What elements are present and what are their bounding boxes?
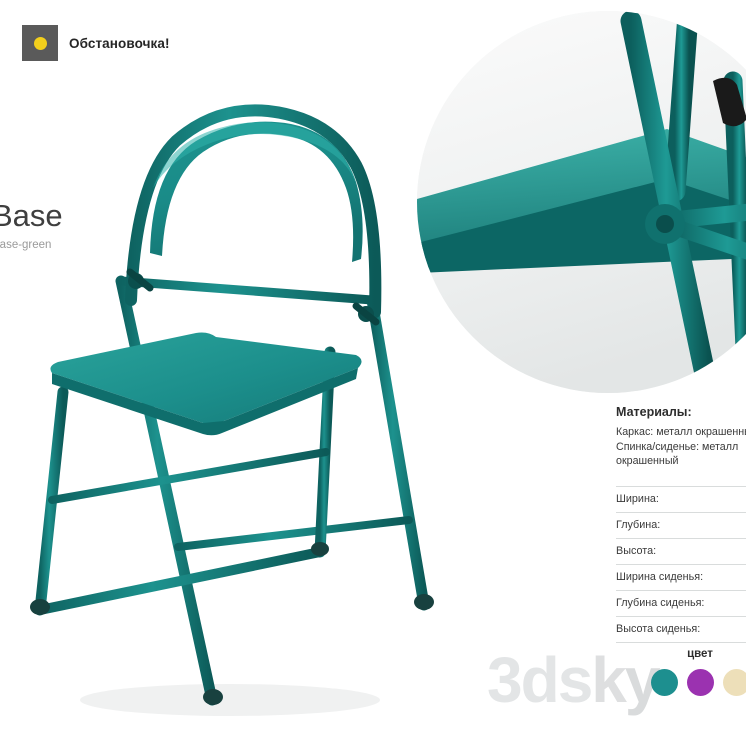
watermark-part-1: 3ds [487, 644, 591, 716]
product-title-block: Base Base-green [0, 200, 63, 251]
product-subtitle: Base-green [0, 239, 63, 251]
table-row: Глубина сиденья: [616, 590, 746, 616]
dimension-label: Глубина: [616, 519, 660, 531]
materials-text: Каркас: металл окрашенный Спинка/сиденье… [616, 425, 746, 469]
swatch-teal[interactable] [651, 669, 678, 696]
dimension-label: Глубина сиденья: [616, 597, 704, 609]
page-title: Base [0, 200, 63, 231]
swatch-purple[interactable] [687, 669, 714, 696]
table-row: Ширина: [616, 486, 746, 512]
brand-logo-square [22, 25, 58, 61]
brand-dot-icon [34, 37, 47, 50]
dimension-label: Высота сиденья: [616, 623, 700, 635]
specifications-panel: Материалы: Каркас: металл окрашенный Спи… [616, 405, 746, 643]
table-row: Глубина: [616, 512, 746, 538]
swatch-list [645, 669, 746, 696]
watermark-part-2: k [591, 644, 625, 716]
color-label: цвет [645, 648, 746, 660]
swatch-beige[interactable] [723, 669, 746, 696]
dimensions-table: Ширина: Глубина: Высота: Ширина сиденья:… [616, 486, 746, 643]
main-product-photo [0, 0, 470, 746]
material-line: окрашенный [616, 454, 746, 469]
dimension-label: Ширина сиденья: [616, 571, 703, 583]
folding-chair-illustration [0, 0, 470, 746]
watermark: 3dsky [487, 648, 658, 712]
materials-heading: Материалы: [616, 405, 746, 419]
material-line: Каркас: металл окрашенный [616, 425, 746, 440]
dimension-label: Высота: [616, 545, 656, 557]
brand-badge: Обстановочка! [22, 25, 170, 61]
brand-name: Обстановочка! [69, 36, 170, 51]
table-row: Ширина сиденья: [616, 564, 746, 590]
table-row: Высота: [616, 538, 746, 564]
dimension-label: Ширина: [616, 493, 659, 505]
color-selector: цвет [645, 648, 746, 696]
table-row: Высота сиденья: [616, 616, 746, 643]
material-line: Спинка/сиденье: металл [616, 440, 746, 455]
product-card: Обстановочка! Base Base-green Материалы:… [0, 0, 746, 746]
